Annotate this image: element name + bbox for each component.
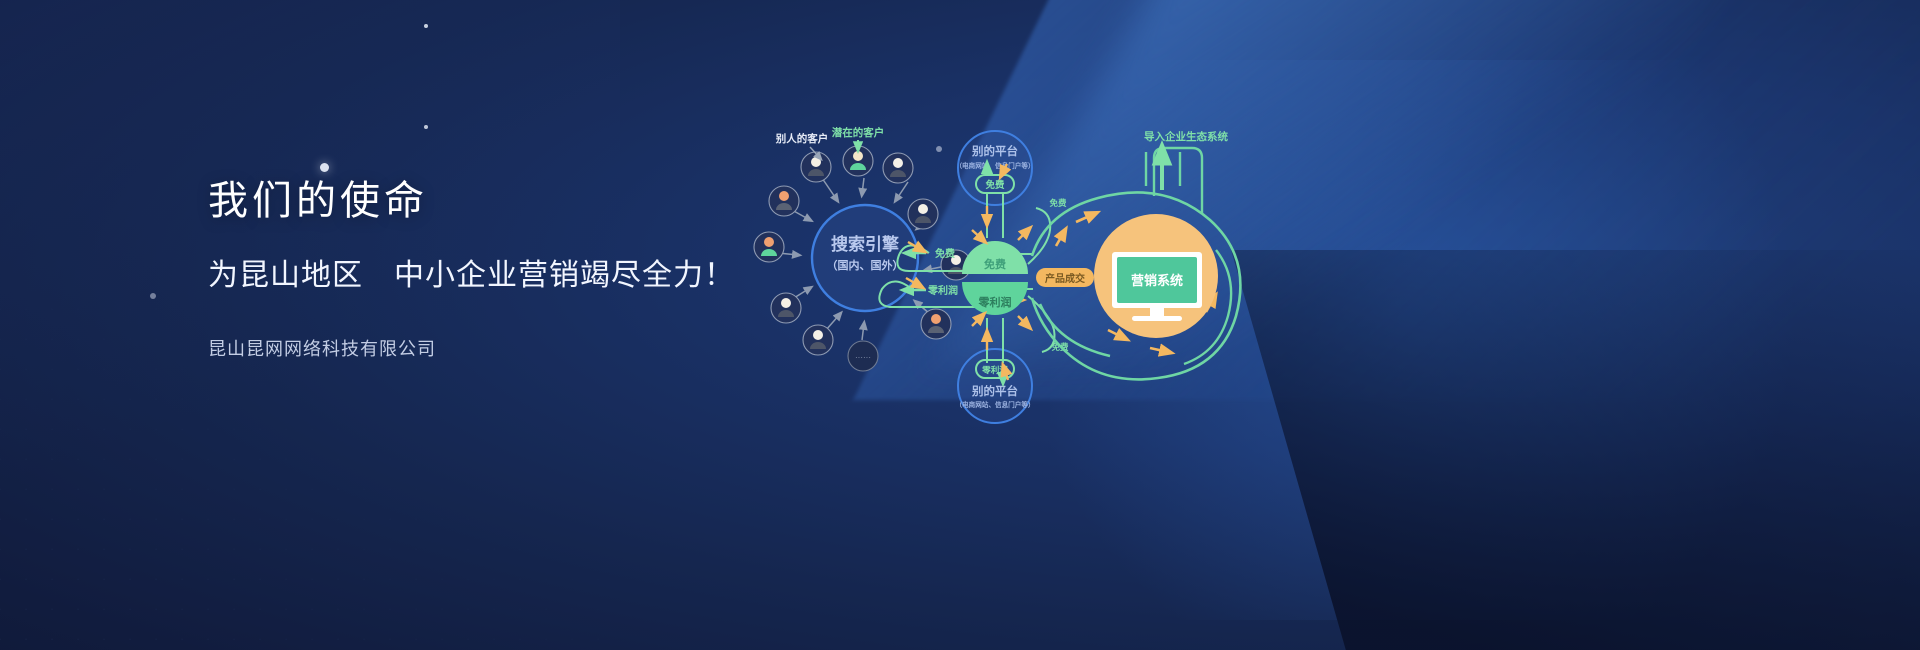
platform-top-label: 别的平台 <box>971 144 1018 158</box>
flow-label-free-branch: 免费 <box>1049 198 1067 208</box>
hub-node: 免费 零利润 <box>962 241 1028 315</box>
search-engine-label: 搜索引擎 <box>831 234 900 254</box>
decor-dot <box>424 125 428 129</box>
avatar-ellipsis: ······ <box>855 353 871 362</box>
avatar <box>921 309 951 339</box>
avatar <box>883 153 913 183</box>
page-title: 我们的使命 <box>208 176 828 226</box>
marketing-flow-diagram: 搜索引擎 （国内、国外） <box>740 118 1280 418</box>
marketing-system-node: 营销系统 <box>1094 214 1218 338</box>
label-others-customers: 别人的客户 <box>775 132 829 145</box>
hero-subtitle: 为昆山地区 中小企业营销竭尽全力！ <box>208 256 828 295</box>
hero-banner: 我们的使命 为昆山地区 中小企业营销竭尽全力！ 昆山昆网网络科技有限公司 <box>0 0 1920 650</box>
search-engine-node <box>812 205 918 311</box>
label-potential-customers: 潜在的客户 <box>832 126 885 139</box>
background-corner-shadow <box>1231 250 1920 650</box>
platform-top-sublabel: （电商网站、信息门户等） <box>955 161 1034 170</box>
avatar <box>801 152 831 182</box>
label-import-ecosystem: 导入企业生态系统 <box>1144 130 1228 143</box>
marketing-system-label: 营销系统 <box>1131 273 1183 288</box>
hub-label-free: 免费 <box>984 257 1006 271</box>
hero-copy: 我们的使命 为昆山地区 中小企业营销竭尽全力！ 昆山昆网网络科技有限公司 <box>208 176 828 361</box>
platform-top-node: 别的平台 （电商网站、信息门户等） 免费 <box>955 131 1034 205</box>
flow-label-free-left: 免费 <box>935 247 955 260</box>
avatar <box>769 186 799 216</box>
hub-label-zero-profit: 零利润 <box>978 295 1012 309</box>
avatar <box>754 232 784 262</box>
company-name: 昆山昆网网络科技有限公司 <box>208 335 828 361</box>
platform-bottom-label: 别的平台 <box>971 384 1018 398</box>
decor-dot <box>150 293 156 299</box>
platform-top-badge: 免费 <box>985 179 1005 191</box>
avatar <box>803 325 833 355</box>
flow-label-zero-profit-left: 零利润 <box>927 284 958 297</box>
deal-pill: 产品成交 <box>1036 268 1094 287</box>
avatar <box>908 199 938 229</box>
platform-bottom-node: 零利润 别的平台 （电商网站、信息门户等） <box>955 349 1034 423</box>
decor-dot <box>424 24 428 28</box>
platform-bottom-sublabel: （电商网站、信息门户等） <box>955 400 1034 409</box>
deal-pill-label: 产品成交 <box>1045 272 1085 285</box>
avatar-placeholder: ······ <box>848 341 878 371</box>
search-engine-sublabel: （国内、国外） <box>827 258 904 272</box>
decor-dot <box>320 163 329 172</box>
avatar-potential-customer <box>843 146 873 176</box>
avatar <box>771 293 801 323</box>
